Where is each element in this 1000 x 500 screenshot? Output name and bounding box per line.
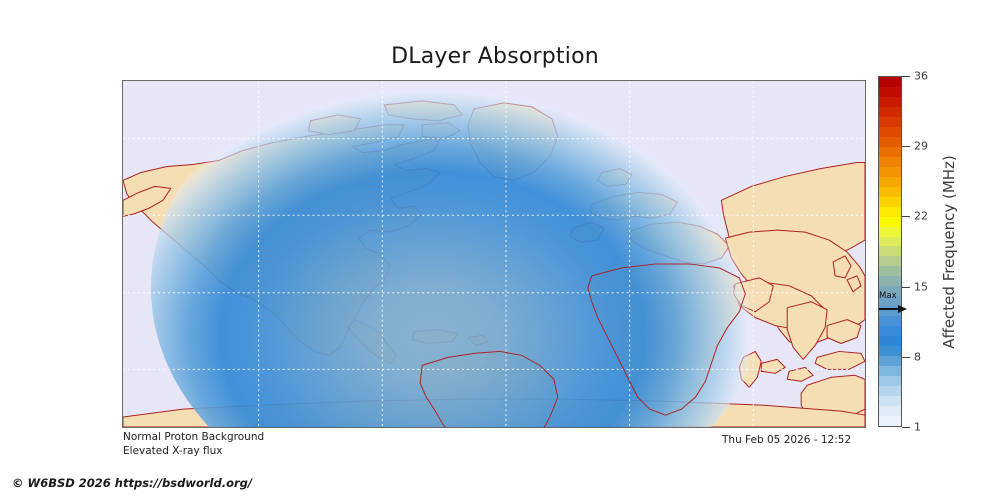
colorbar-gradient [878,76,902,427]
colorbar-band [879,177,901,187]
map-panel[interactable] [122,80,866,428]
colorbar-band [879,296,901,306]
colorbar-band [879,157,901,167]
colorbar-band [879,97,901,107]
colorbar-tick [902,146,910,147]
colorbar-band [879,107,901,117]
colorbar-tick [902,287,910,288]
page-title: DLayer Absorption [0,46,990,68]
colorbar-tick-label: 8 [914,350,921,363]
colorbar-band [879,256,901,266]
colorbar-band [879,416,901,426]
world-map [123,81,865,427]
colorbar-band [879,197,901,207]
colorbar-band [879,137,901,147]
colorbar-band [879,227,901,237]
colorbar-tick [902,357,910,358]
colorbar-band [879,217,901,227]
colorbar-band [879,366,901,376]
colorbar-band [879,276,901,286]
colorbar-band [879,376,901,386]
colorbar-band [879,187,901,197]
colorbar-axis-label-text: Affected Frequency (MHz) [940,155,958,349]
colorbar-tick [902,216,910,217]
colorbar-band [879,266,901,276]
colorbar-band [879,326,901,336]
colorbar-band [879,316,901,326]
copyright-notice: © W6BSD 2026 https://bsdworld.org/ [12,476,252,490]
colorbar-band [879,356,901,366]
colorbar-tick-label: 1 [914,421,921,434]
colorbar-band [879,406,901,416]
colorbar-tick-label: 36 [914,70,928,83]
colorbar-band [879,117,901,127]
colorbar[interactable]: 3629221581 [878,76,902,427]
colorbar-tick-label: 22 [914,210,928,223]
colorbar-tick [902,427,910,428]
colorbar-band [879,246,901,256]
xray-status-note: Elevated X-ray flux [123,444,222,458]
colorbar-band [879,286,901,296]
colorbar-band [879,167,901,177]
absorption-field [151,81,769,427]
colorbar-band [879,396,901,406]
colorbar-band [879,306,901,316]
colorbar-band [879,147,901,157]
colorbar-band [879,207,901,217]
colorbar-band [879,346,901,356]
colorbar-axis-label: Affected Frequency (MHz) [938,76,960,427]
colorbar-band [879,237,901,247]
colorbar-band [879,87,901,97]
colorbar-tick [902,76,910,77]
colorbar-band [879,386,901,396]
proton-status-note: Normal Proton Background [123,430,264,444]
colorbar-band [879,336,901,346]
colorbar-band [879,127,901,137]
colorbar-band [879,77,901,87]
colorbar-tick-label: 29 [914,140,928,153]
timestamp-label: Thu Feb 05 2026 - 12:52 [722,433,851,447]
colorbar-tick-label: 15 [914,280,928,293]
